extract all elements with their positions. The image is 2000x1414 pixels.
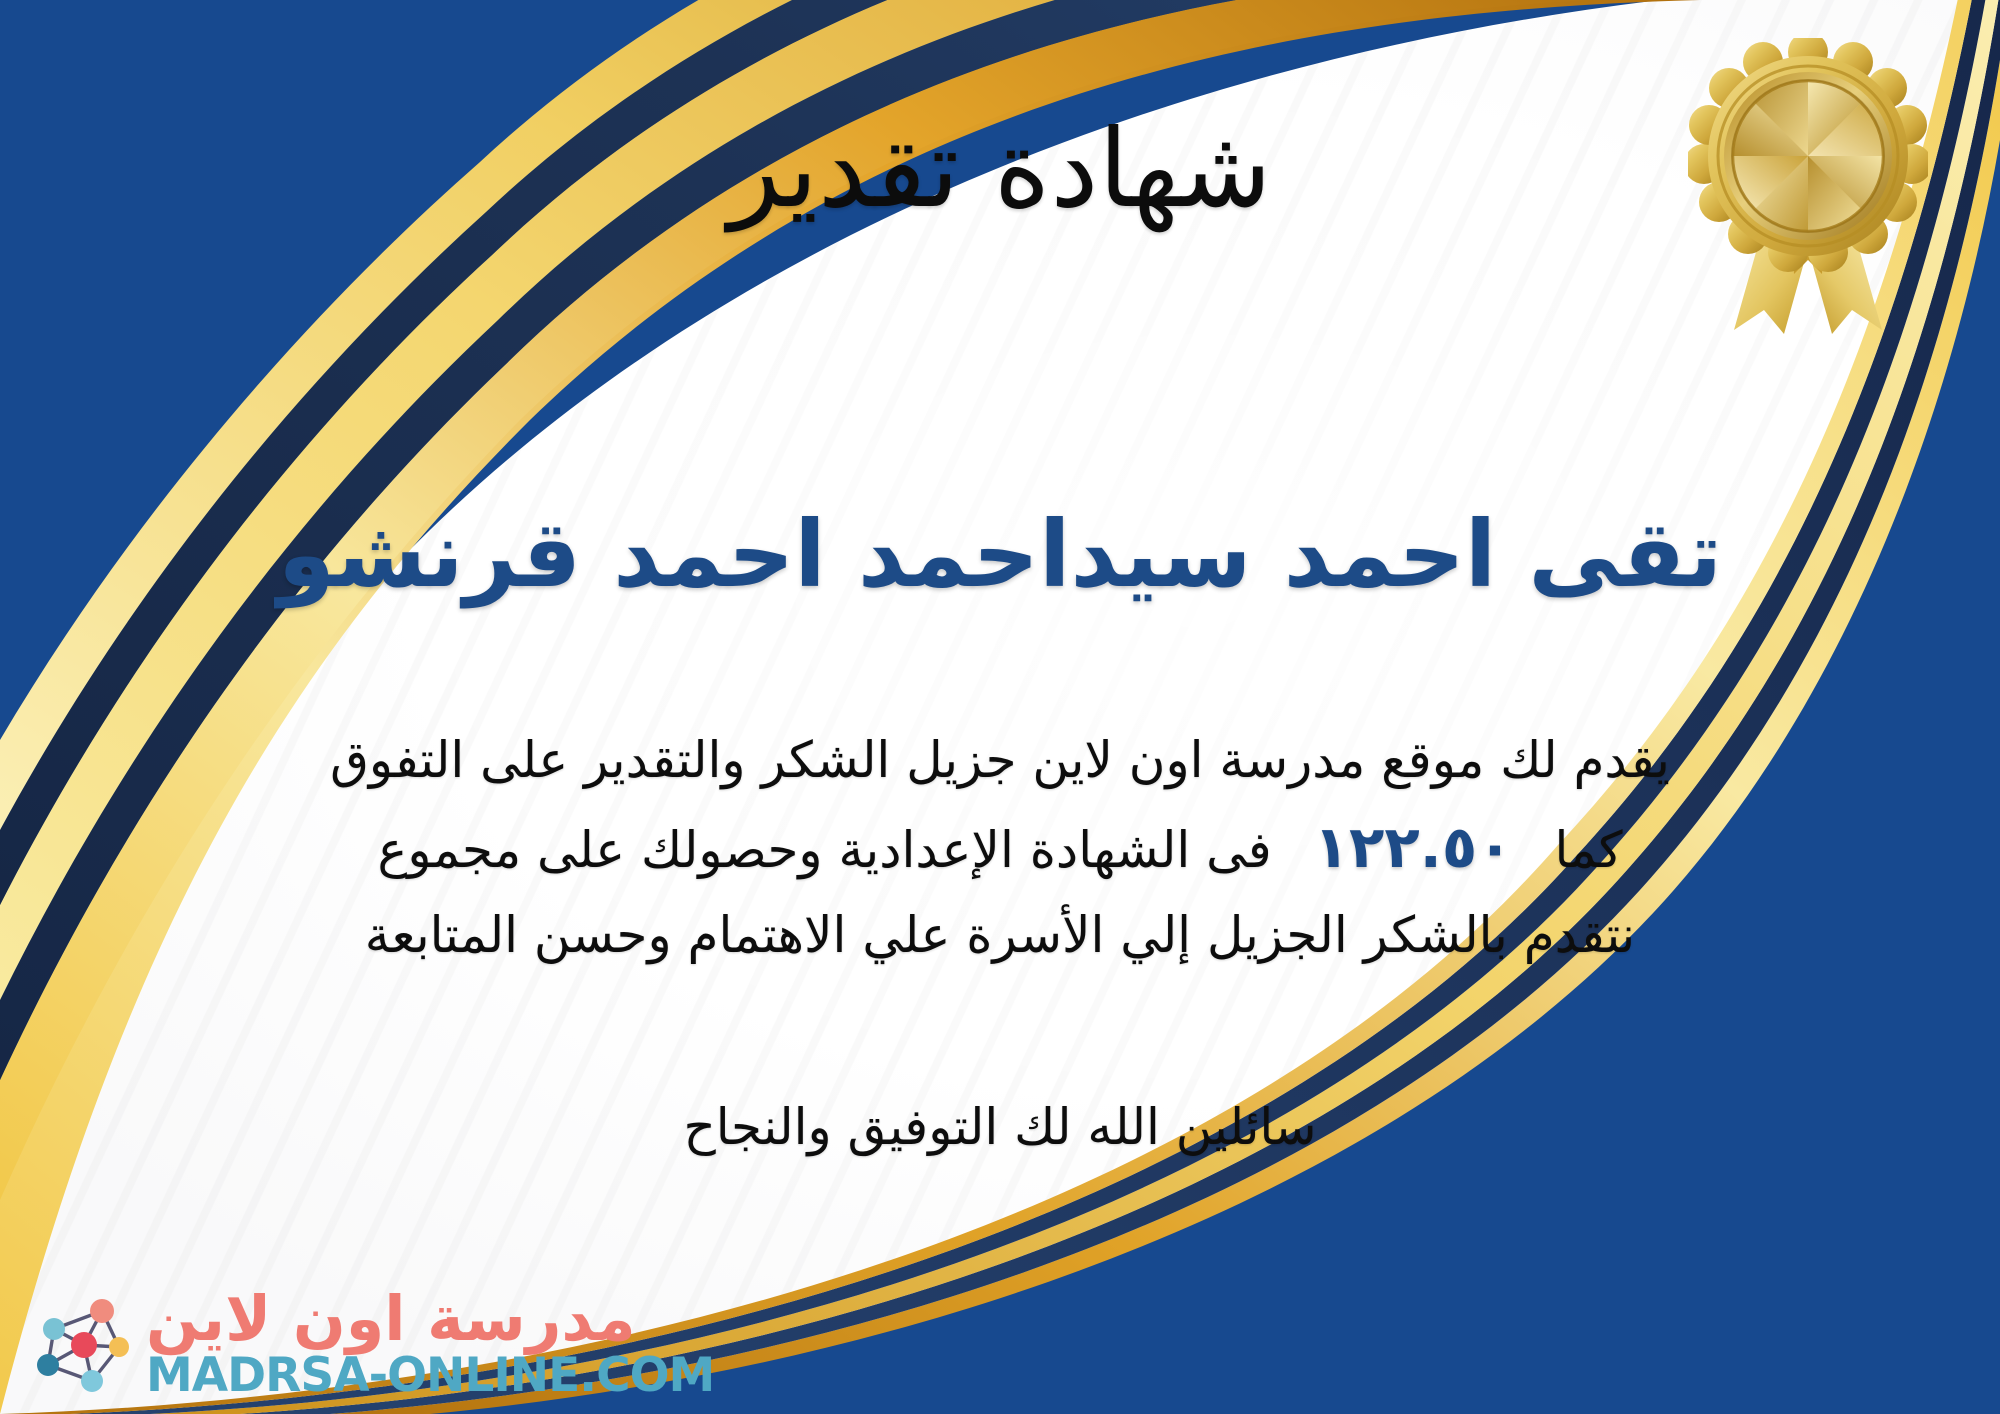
brand-name-arabic: مدرسة اون لاين <box>146 1286 636 1351</box>
brand-logo[interactable]: مدرسة اون لاين MADRSA-ONLINE.COM <box>24 1286 714 1400</box>
certificate-body: يقدم لك موقع مدرسة اون لاين جزيل الشكر و… <box>60 720 1940 976</box>
body-line-2-prefix: فى الشهادة الإعدادية وحصولك على مجموع <box>377 821 1271 879</box>
body-line-2: كما ١٢٢.٥٠ فى الشهادة الإعدادية وحصولك ع… <box>60 801 1940 895</box>
brand-logo-text: مدرسة اون لاين MADRSA-ONLINE.COM <box>146 1286 714 1400</box>
body-line-3: نتقدم بالشكر الجزيل إلي الأسرة علي الاهت… <box>60 895 1940 976</box>
total-score-value: ١٢٢.٥٠ <box>1288 813 1539 881</box>
certificate-page: شهادة تقدير تقى احمد سيداحمد احمد قرنشو … <box>0 0 2000 1414</box>
closing-line: سائلين الله لك التوفيق والنجاح <box>0 1098 2000 1156</box>
gold-medal-rosette-icon <box>1688 38 1928 338</box>
network-nodes-icon <box>24 1289 132 1397</box>
brand-website: MADRSA-ONLINE.COM <box>146 1351 714 1400</box>
body-line-2-suffix: كما <box>1555 821 1623 879</box>
body-line-1: يقدم لك موقع مدرسة اون لاين جزيل الشكر و… <box>60 720 1940 801</box>
recipient-name: تقى احمد سيداحمد احمد قرنشو <box>0 500 2000 610</box>
